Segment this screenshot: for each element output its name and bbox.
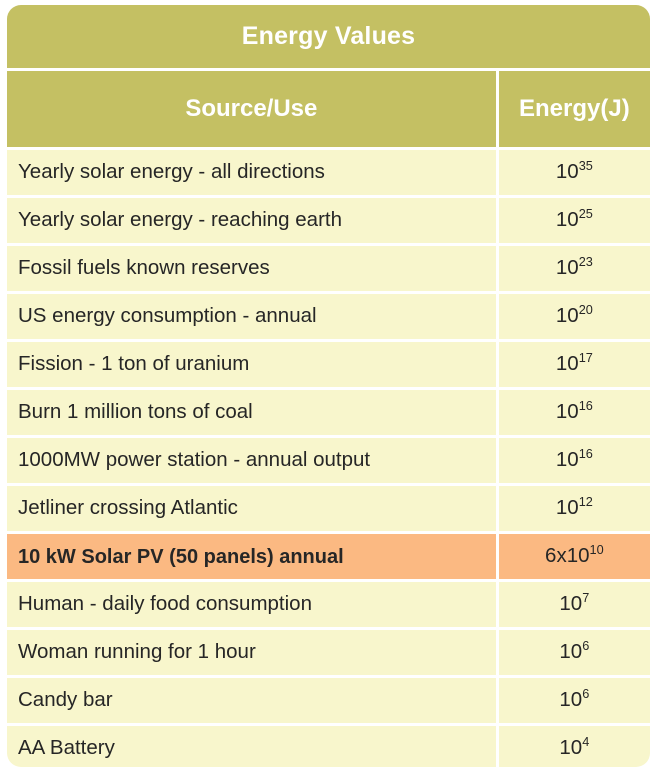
cell-energy: 106 bbox=[499, 630, 650, 675]
source-label: Jetliner crossing Atlantic bbox=[18, 498, 238, 519]
cell-energy: 1017 bbox=[499, 342, 650, 387]
cell-source: 1000MW power station - annual output bbox=[7, 438, 496, 483]
cell-source: Yearly solar energy - all directions bbox=[7, 150, 496, 195]
table-row: Fossil fuels known reserves1023 bbox=[7, 246, 650, 291]
cell-energy: 6x1010 bbox=[499, 534, 650, 579]
source-label: 1000MW power station - annual output bbox=[18, 450, 370, 471]
energy-mantissa: 10 bbox=[556, 448, 579, 471]
table-row: 10 kW Solar PV (50 panels) annual6x1010 bbox=[7, 534, 650, 579]
table-body: Yearly solar energy - all directions1035… bbox=[7, 150, 650, 767]
source-label: Fossil fuels known reserves bbox=[18, 258, 270, 279]
cell-energy: 104 bbox=[499, 726, 650, 767]
energy-value: 1023 bbox=[556, 258, 593, 279]
energy-value: 6x1010 bbox=[545, 546, 604, 567]
table-row: US energy consumption - annual1020 bbox=[7, 294, 650, 339]
energy-mantissa: 10 bbox=[559, 640, 582, 663]
energy-mantissa: 10 bbox=[556, 400, 579, 423]
cell-energy: 106 bbox=[499, 678, 650, 723]
energy-mantissa: 6x10 bbox=[545, 544, 589, 567]
cell-energy: 1012 bbox=[499, 486, 650, 531]
table-row: Yearly solar energy - all directions1035 bbox=[7, 150, 650, 195]
cell-source: Yearly solar energy - reaching earth bbox=[7, 198, 496, 243]
source-label: Yearly solar energy - reaching earth bbox=[18, 210, 342, 231]
table-row: Yearly solar energy - reaching earth1025 bbox=[7, 198, 650, 243]
cell-energy: 1016 bbox=[499, 390, 650, 435]
source-label: Yearly solar energy - all directions bbox=[18, 162, 325, 183]
cell-energy: 1016 bbox=[499, 438, 650, 483]
energy-exponent: 17 bbox=[579, 350, 593, 365]
cell-source: Woman running for 1 hour bbox=[7, 630, 496, 675]
cell-energy: 1025 bbox=[499, 198, 650, 243]
column-header-source: Source/Use bbox=[7, 71, 496, 147]
energy-mantissa: 10 bbox=[556, 496, 579, 519]
cell-source: Jetliner crossing Atlantic bbox=[7, 486, 496, 531]
table-row: Human - daily food consumption107 bbox=[7, 582, 650, 627]
energy-exponent: 6 bbox=[582, 686, 589, 701]
source-label: Candy bar bbox=[18, 690, 113, 711]
energy-exponent: 4 bbox=[582, 734, 589, 749]
cell-energy: 1020 bbox=[499, 294, 650, 339]
energy-exponent: 23 bbox=[579, 254, 593, 269]
source-label: AA Battery bbox=[18, 738, 115, 759]
energy-exponent: 25 bbox=[579, 206, 593, 221]
cell-source: Candy bar bbox=[7, 678, 496, 723]
cell-source: Fossil fuels known reserves bbox=[7, 246, 496, 291]
table-header-row: Source/Use Energy(J) bbox=[7, 71, 650, 147]
energy-mantissa: 10 bbox=[559, 688, 582, 711]
cell-source: Burn 1 million tons of coal bbox=[7, 390, 496, 435]
table-row: Jetliner crossing Atlantic1012 bbox=[7, 486, 650, 531]
energy-value: 1017 bbox=[556, 354, 593, 375]
energy-exponent: 7 bbox=[582, 590, 589, 605]
energy-mantissa: 10 bbox=[559, 592, 582, 615]
energy-value: 1016 bbox=[556, 450, 593, 471]
energy-exponent: 10 bbox=[590, 542, 604, 557]
energy-exponent: 12 bbox=[579, 494, 593, 509]
cell-source: Fission - 1 ton of uranium bbox=[7, 342, 496, 387]
energy-value: 106 bbox=[559, 642, 589, 663]
energy-exponent: 16 bbox=[579, 446, 593, 461]
table-row: Fission - 1 ton of uranium1017 bbox=[7, 342, 650, 387]
energy-exponent: 6 bbox=[582, 638, 589, 653]
energy-values-table: Energy Values Source/Use Energy(J) Yearl… bbox=[7, 5, 650, 767]
energy-mantissa: 10 bbox=[556, 256, 579, 279]
energy-exponent: 20 bbox=[579, 302, 593, 317]
source-label: Burn 1 million tons of coal bbox=[18, 402, 253, 423]
energy-value: 1020 bbox=[556, 306, 593, 327]
energy-value: 1035 bbox=[556, 162, 593, 183]
cell-source: 10 kW Solar PV (50 panels) annual bbox=[7, 534, 496, 579]
energy-mantissa: 10 bbox=[556, 304, 579, 327]
source-label: Fission - 1 ton of uranium bbox=[18, 354, 249, 375]
cell-source: Human - daily food consumption bbox=[7, 582, 496, 627]
column-header-energy-label: Energy(J) bbox=[519, 97, 630, 121]
energy-mantissa: 10 bbox=[556, 208, 579, 231]
cell-energy: 1023 bbox=[499, 246, 650, 291]
page-title: Energy Values bbox=[242, 24, 416, 49]
table-row: 1000MW power station - annual output1016 bbox=[7, 438, 650, 483]
table-row: Woman running for 1 hour106 bbox=[7, 630, 650, 675]
energy-exponent: 16 bbox=[579, 398, 593, 413]
energy-mantissa: 10 bbox=[556, 352, 579, 375]
cell-energy: 107 bbox=[499, 582, 650, 627]
source-label: US energy consumption - annual bbox=[18, 306, 317, 327]
source-label: 10 kW Solar PV (50 panels) annual bbox=[18, 547, 344, 567]
energy-value: 1012 bbox=[556, 498, 593, 519]
table-row: AA Battery104 bbox=[7, 726, 650, 767]
energy-value: 107 bbox=[559, 594, 589, 615]
cell-source: US energy consumption - annual bbox=[7, 294, 496, 339]
column-header-energy: Energy(J) bbox=[499, 71, 650, 147]
source-label: Human - daily food consumption bbox=[18, 594, 312, 615]
source-label: Woman running for 1 hour bbox=[18, 642, 256, 663]
table-row: Candy bar106 bbox=[7, 678, 650, 723]
energy-exponent: 35 bbox=[579, 158, 593, 173]
energy-mantissa: 10 bbox=[556, 160, 579, 183]
energy-mantissa: 10 bbox=[559, 736, 582, 759]
column-header-source-label: Source/Use bbox=[185, 97, 317, 121]
table-row: Burn 1 million tons of coal1016 bbox=[7, 390, 650, 435]
table-title-band: Energy Values bbox=[7, 5, 650, 68]
energy-value: 1025 bbox=[556, 210, 593, 231]
energy-value: 104 bbox=[559, 738, 589, 759]
energy-value: 106 bbox=[559, 690, 589, 711]
energy-value: 1016 bbox=[556, 402, 593, 423]
cell-source: AA Battery bbox=[7, 726, 496, 767]
cell-energy: 1035 bbox=[499, 150, 650, 195]
